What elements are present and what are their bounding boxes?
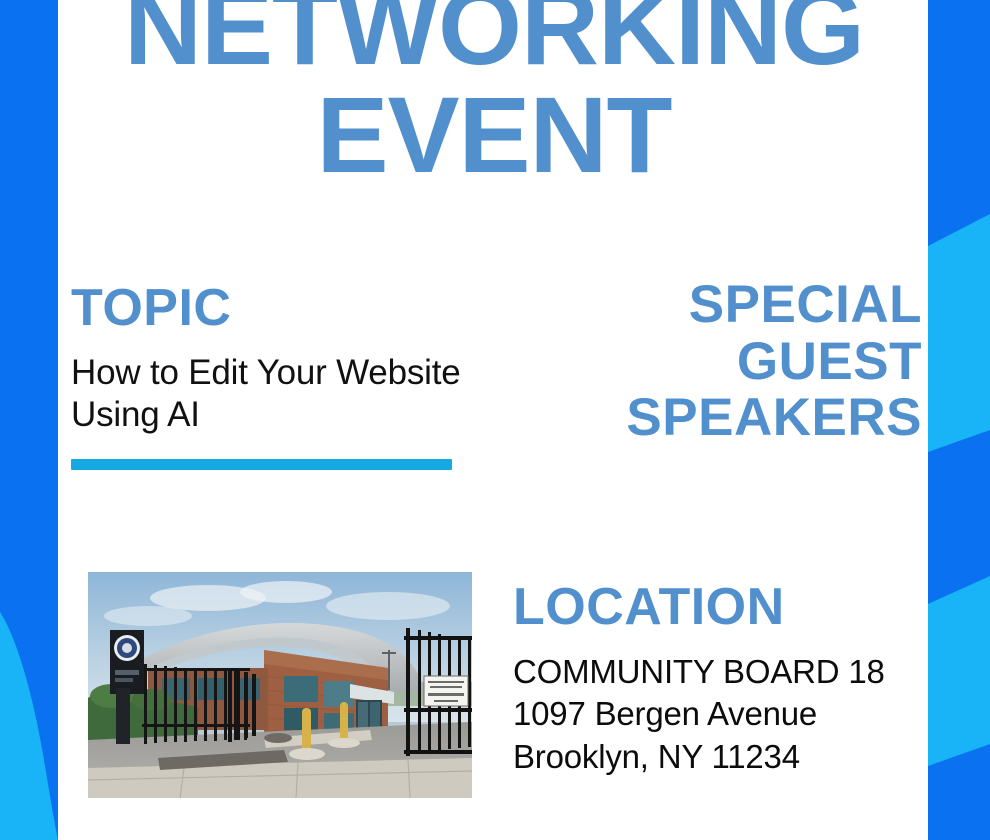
location-address: COMMUNITY BOARD 18 1097 Bergen Avenue Br… xyxy=(513,651,933,780)
speakers-heading-line-1: SPECIAL xyxy=(689,275,922,334)
location-heading: LOCATION xyxy=(513,580,933,635)
event-flyer: NETWORKING EVENT TOPIC How to Edit Your … xyxy=(0,0,990,840)
topic-section: TOPIC How to Edit Your Website Using AI xyxy=(71,281,471,470)
speakers-heading: SPECIAL GUEST SPEAKERS xyxy=(492,277,922,447)
topic-accent-rule xyxy=(71,459,452,470)
speakers-heading-line-2: GUEST xyxy=(737,332,922,391)
topic-description: How to Edit Your Website Using AI xyxy=(71,352,471,437)
headline-line-1: NETWORKING xyxy=(58,0,930,80)
location-address-line-2: 1097 Bergen Avenue xyxy=(513,693,933,736)
poster-headline: NETWORKING EVENT xyxy=(58,0,930,188)
speakers-section: SPECIAL GUEST SPEAKERS xyxy=(492,277,922,447)
location-address-line-3: Brooklyn, NY 11234 xyxy=(513,736,933,779)
right-decorative-band xyxy=(928,0,990,840)
location-section: LOCATION COMMUNITY BOARD 18 1097 Bergen … xyxy=(513,580,933,779)
headline-line-2: EVENT xyxy=(58,82,930,188)
left-decorative-band xyxy=(0,0,58,840)
venue-photo xyxy=(88,572,472,798)
topic-heading: TOPIC xyxy=(71,281,471,336)
location-address-line-1: COMMUNITY BOARD 18 xyxy=(513,651,933,694)
speakers-heading-line-3: SPEAKERS xyxy=(626,388,922,447)
